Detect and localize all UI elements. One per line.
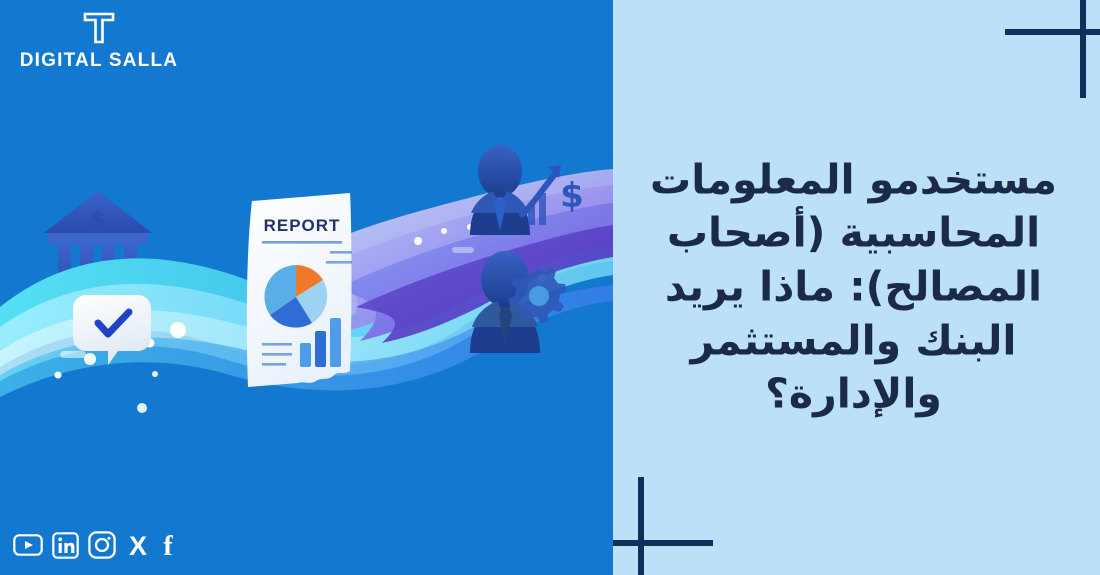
linkedin-icon[interactable] <box>52 532 79 559</box>
report-title: REPORT <box>264 216 341 235</box>
pie-chart <box>264 265 327 328</box>
crosshair-bottom-left-vertical <box>638 477 644 575</box>
x-twitter-icon[interactable]: X <box>125 531 151 559</box>
crosshair-bottom-left-horizontal <box>613 540 713 546</box>
hero-illustration: $ <box>0 75 613 415</box>
brand-name: DIGITAL SALLA <box>14 50 184 72</box>
promo-banner: DIGITAL SALLA <box>0 0 1100 575</box>
report-document: REPORT <box>247 193 352 387</box>
crosshair-top-right-vertical <box>1080 0 1086 98</box>
brand-logo[interactable]: DIGITAL SALLA <box>14 8 184 72</box>
social-links[interactable]: X f <box>13 531 176 559</box>
dollar-sign-icon: $ <box>560 176 584 216</box>
svg-text:X: X <box>129 531 147 559</box>
svg-text:f: f <box>163 531 173 559</box>
page-title: مستخدمو المعلومات المحاسبية (أصحاب المصا… <box>613 153 1100 422</box>
youtube-icon[interactable] <box>13 533 43 557</box>
svg-text:$: $ <box>90 208 105 233</box>
instagram-icon[interactable] <box>88 531 116 559</box>
left-visual-panel: DIGITAL SALLA <box>0 0 613 575</box>
right-text-panel: مستخدمو المعلومات المحاسبية (أصحاب المصا… <box>613 0 1100 575</box>
facebook-icon[interactable]: f <box>160 531 176 559</box>
letter-t-outline-logo-icon <box>14 8 184 48</box>
